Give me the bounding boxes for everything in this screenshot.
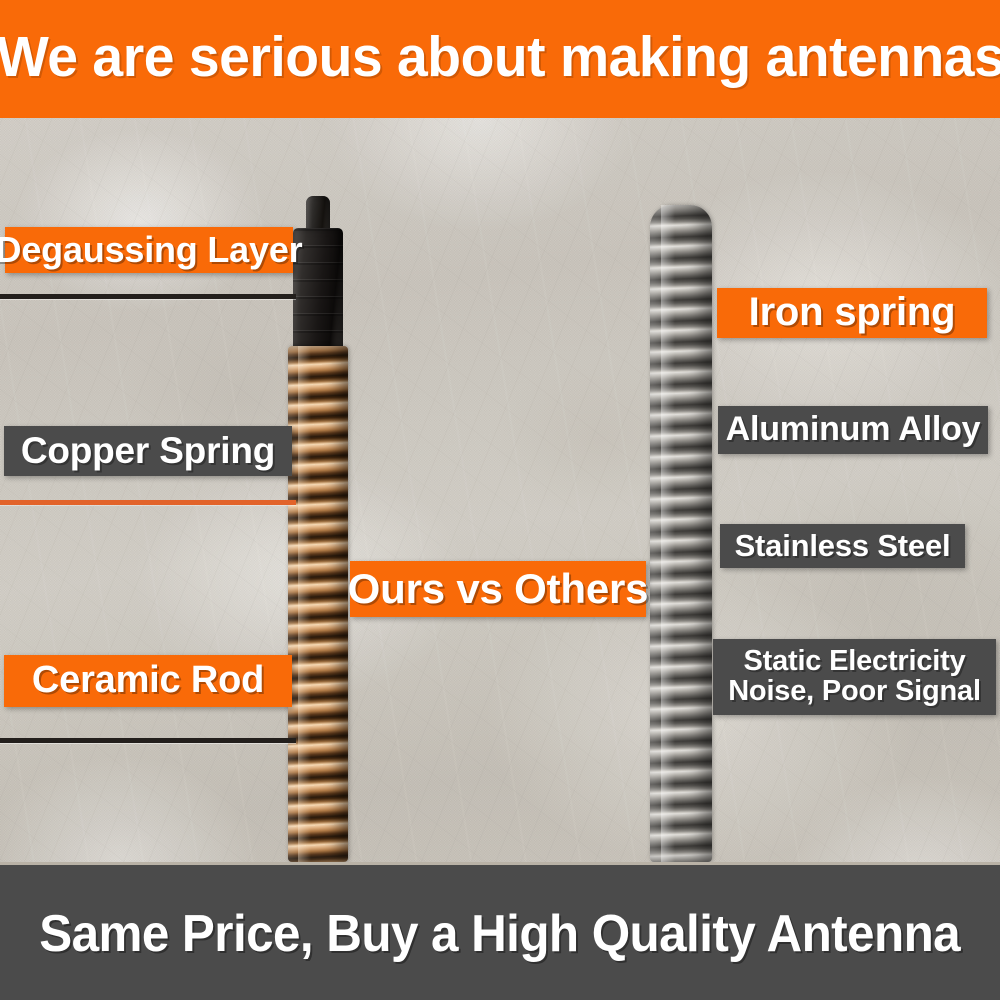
label-ceramic-rod[interactable]: Ceramic Rod (4, 655, 292, 707)
top-banner: We are serious about making antennas (0, 0, 1000, 118)
bottom-banner-text: Same Price, Buy a High Quality Antenna (40, 904, 961, 964)
label-iron-spring[interactable]: Iron spring (717, 288, 987, 338)
leader-line-degaussing (0, 294, 296, 299)
black-rubber-cap-nub (306, 196, 330, 232)
iron-spring-coil (650, 205, 712, 862)
copper-spring-coil (288, 346, 348, 862)
label-degaussing-layer-text: Degaussing Layer (0, 231, 302, 268)
label-stainless-steel[interactable]: Stainless Steel (720, 524, 965, 568)
label-iron-spring-text: Iron spring (749, 292, 956, 333)
label-ours-vs-others[interactable]: Ours vs Others (350, 561, 646, 617)
antenna-ours (288, 196, 350, 862)
label-ceramic-rod-text: Ceramic Rod (32, 661, 264, 700)
top-banner-text: We are serious about making antennas (0, 24, 1000, 94)
label-copper-spring-text: Copper Spring (21, 432, 275, 470)
antenna-others (650, 205, 714, 862)
label-copper-spring[interactable]: Copper Spring (4, 426, 292, 476)
product-comparison-image: Degaussing Layer Copper Spring Ceramic R… (0, 0, 1000, 1000)
label-degaussing-layer[interactable]: Degaussing Layer (5, 227, 293, 273)
leader-line-copper-spring (0, 500, 296, 505)
label-static-electricity-line2: Noise, Poor Signal (728, 677, 981, 707)
leader-line-ceramic-rod (0, 738, 296, 743)
label-aluminum-alloy-text: Aluminum Alloy (726, 412, 981, 447)
label-ours-vs-others-text: Ours vs Others (348, 567, 649, 610)
bottom-banner: Same Price, Buy a High Quality Antenna (0, 862, 1000, 1000)
label-static-electricity[interactable]: Static Electricity Noise, Poor Signal (713, 639, 996, 715)
label-aluminum-alloy[interactable]: Aluminum Alloy (718, 406, 988, 454)
label-static-electricity-line1: Static Electricity (743, 647, 965, 677)
label-stainless-steel-text: Stainless Steel (735, 530, 951, 562)
